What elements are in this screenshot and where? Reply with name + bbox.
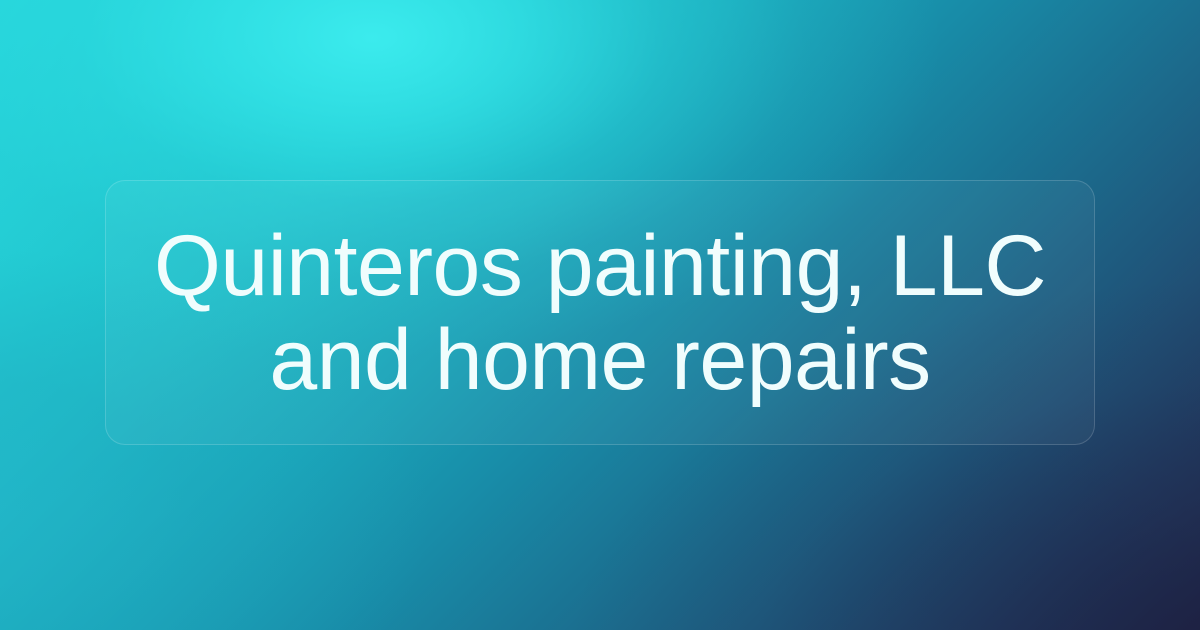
page-title: Quinteros painting, LLC and home repairs — [106, 219, 1094, 407]
title-panel: Quinteros painting, LLC and home repairs — [105, 180, 1095, 445]
social-preview-card: Quinteros painting, LLC and home repairs — [0, 0, 1200, 630]
